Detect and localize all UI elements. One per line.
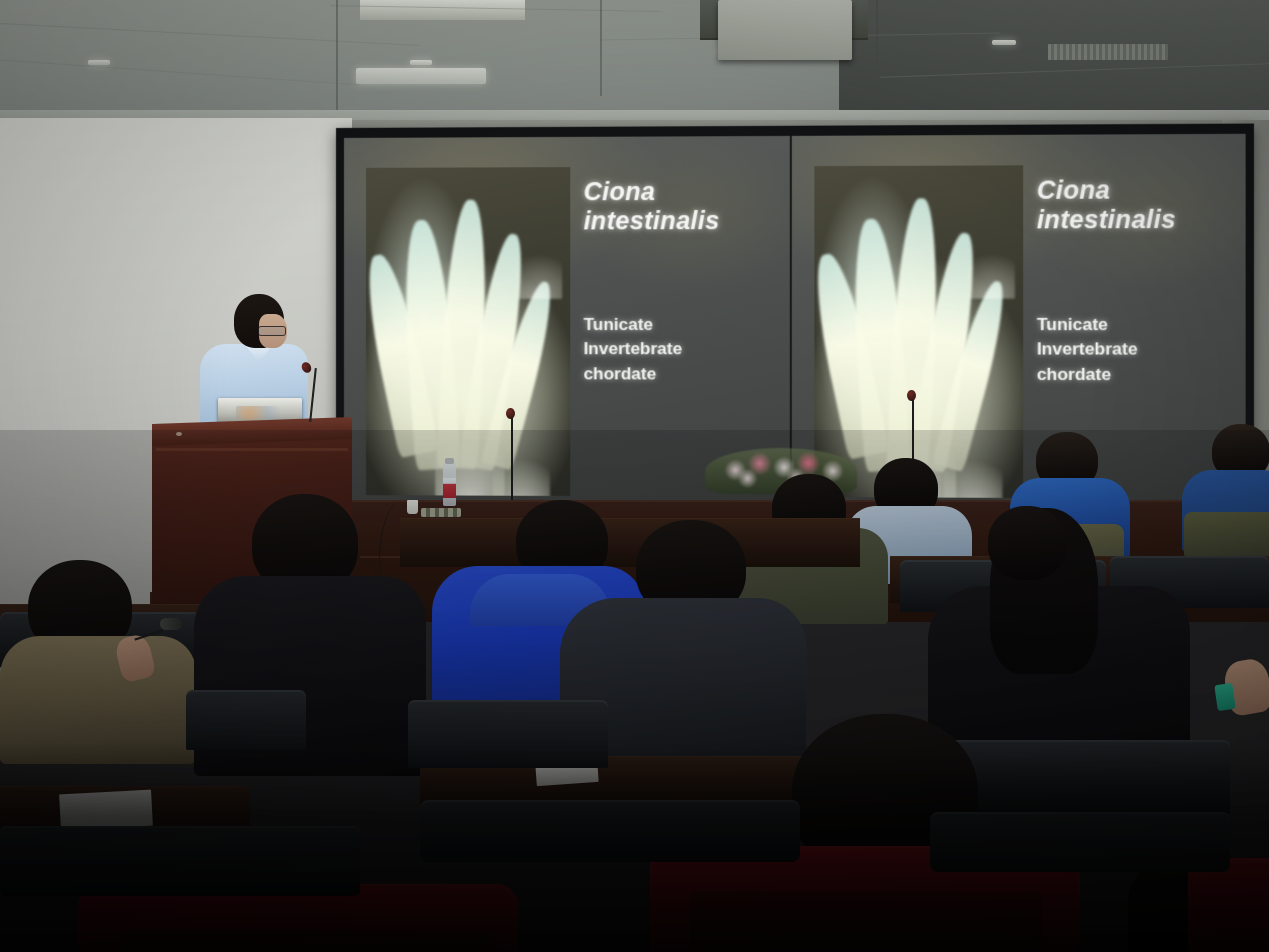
- species-genus: Ciona: [583, 178, 719, 208]
- descriptor-line: chordate: [583, 362, 682, 387]
- podium-edge: [156, 448, 348, 451]
- seat-wood-back: [120, 930, 492, 952]
- stage-small-objects: [421, 508, 461, 517]
- ceiling-vent: [1048, 44, 1168, 60]
- eyeglasses-icon: [258, 326, 286, 336]
- smartphone[interactable]: [1214, 683, 1235, 711]
- ceiling-light: [88, 60, 110, 65]
- ceiling-light: [992, 40, 1016, 45]
- microphone-head: [907, 390, 916, 401]
- ceiling-light-panel: [356, 68, 486, 84]
- slide-descriptor-list: Tunicate Invertebrate chordate: [583, 313, 682, 388]
- water-bottle-label: [443, 478, 456, 498]
- descriptor-line: Invertebrate: [1037, 338, 1138, 363]
- microphone-stand: [511, 414, 513, 500]
- species-genus: Ciona: [1037, 176, 1176, 207]
- descriptor-line: chordate: [1037, 363, 1138, 388]
- desk-row: [400, 518, 860, 567]
- ciona-photograph: [366, 167, 570, 496]
- slide-species-name: Ciona intestinalis: [583, 178, 719, 238]
- slide-panel-right: Ciona intestinalis Tunicate Invertebrate…: [790, 134, 1246, 514]
- ciona-photograph: [814, 165, 1023, 498]
- ceiling-tile-seam: [336, 0, 338, 116]
- seat[interactable]: [408, 700, 608, 768]
- species-epithet: intestinalis: [1037, 206, 1176, 236]
- podium-marker: [176, 432, 182, 436]
- descriptor-line: Invertebrate: [583, 338, 682, 363]
- seat[interactable]: [420, 800, 800, 862]
- lecture-hall-photo: Ciona intestinalis Tunicate Invertebrate…: [0, 0, 1269, 952]
- paper-sheet: [59, 790, 153, 831]
- ceiling-light: [410, 60, 432, 65]
- slide-species-name: Ciona intestinalis: [1037, 176, 1176, 237]
- paper-cup: [407, 500, 418, 514]
- seat[interactable]: [1188, 858, 1269, 952]
- water-bottle-cap: [445, 458, 454, 464]
- seat[interactable]: [186, 690, 306, 750]
- seat[interactable]: [930, 812, 1230, 872]
- laptop-lid-graphic: [236, 406, 280, 420]
- slide-descriptor-list: Tunicate Invertebrate chordate: [1037, 313, 1138, 388]
- ceiling-tile-seam: [876, 0, 878, 84]
- seat-wood-back: [690, 892, 1042, 952]
- descriptor-line: Tunicate: [583, 313, 682, 338]
- microphone-head: [506, 408, 515, 419]
- ceiling-projector: [718, 0, 852, 60]
- microphone-head: [160, 618, 182, 630]
- ceiling-tile-seam: [600, 0, 602, 96]
- microphone-stand: [912, 396, 914, 468]
- ceiling-bright-panel: [360, 0, 525, 20]
- descriptor-line: Tunicate: [1037, 313, 1138, 338]
- species-epithet: intestinalis: [583, 207, 719, 237]
- seat[interactable]: [0, 826, 360, 896]
